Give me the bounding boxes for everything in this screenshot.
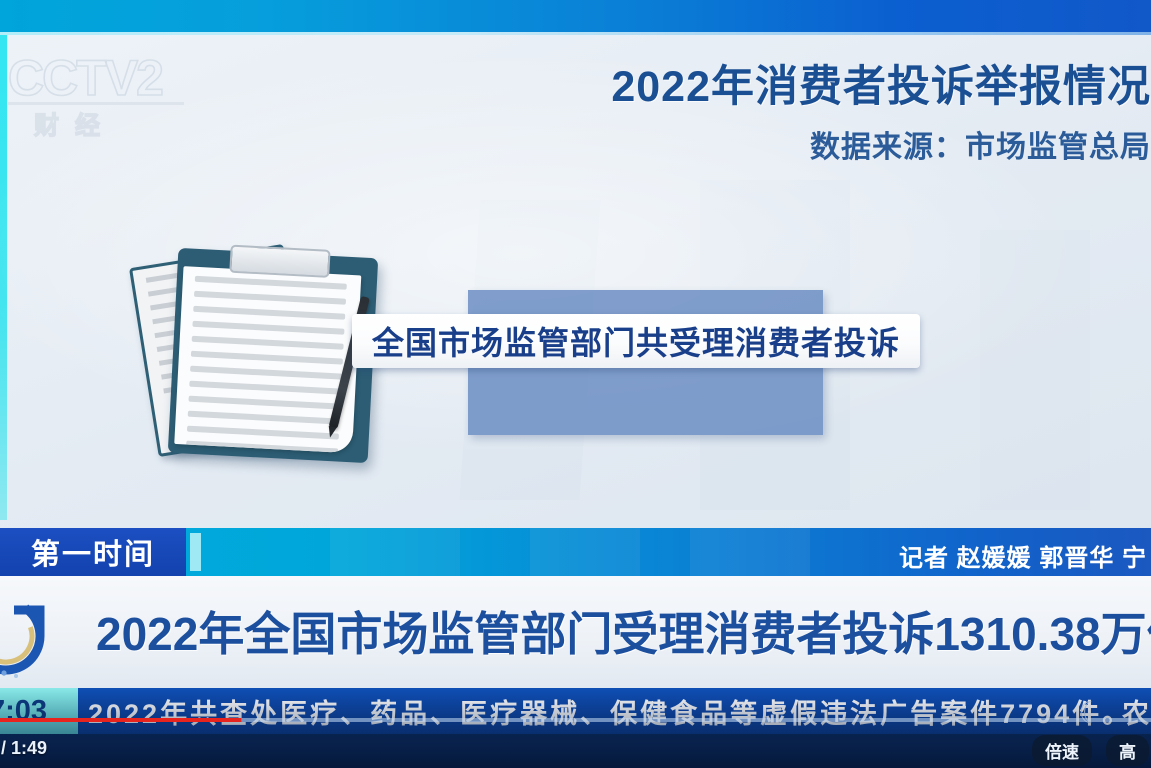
clipboard-illustration (125, 245, 385, 475)
chart-title: 2022年消费者投诉举报情况 (451, 62, 1151, 112)
program-circle-logo-svg (0, 588, 74, 684)
broadcast-video-frame[interactable]: CCTV2 财经 2022年消费者投诉举报情况 数据来源：市场监管总局 (0, 0, 1151, 688)
crescent-mark-icon: ☾ (1079, 696, 1101, 731)
player-bottom-background (0, 734, 1151, 768)
video-player-screen: CCTV2 财经 2022年消费者投诉举报情况 数据来源：市场监管总局 (0, 0, 1151, 768)
ticker-clock: 7:03 (0, 688, 78, 734)
program-name-badge: 第一时间 (0, 528, 186, 576)
banner-text: 全国市场监管部门共受理消费者投诉 (372, 318, 900, 364)
playback-speed-button[interactable]: 倍速 (1032, 735, 1092, 766)
credits-bar-tick (190, 533, 201, 571)
video-quality-button[interactable]: 高 (1106, 735, 1149, 766)
program-name-label: 第一时间 (31, 531, 155, 573)
ticker-scrolling-text: 2022年共查处医疗、药品、医疗器械、保健食品等虚假违法广告案件7794件。 (88, 692, 1132, 731)
chart-data-source: 数据来源：市场监管总局 (451, 122, 1151, 166)
top-gradient-band (0, 0, 1151, 32)
video-time-display: 4 / 1:49 (0, 738, 47, 759)
chart-header: 2022年消费者投诉举报情况 数据来源：市场监管总局 (451, 62, 1151, 166)
reporter-credits: 记者 赵媛媛 郭晋华 宁 (899, 538, 1147, 573)
credits-bar: 第一时间 记者 赵媛媛 郭晋华 宁 (0, 528, 1151, 576)
headline-text: 2022年全国市场监管部门受理消费者投诉1310.38万件 (96, 598, 1151, 664)
banner-callout: 全国市场监管部门共受理消费者投诉 (352, 314, 920, 368)
ticker-trailing-text: 农 (1122, 692, 1149, 731)
clipboard-clip (229, 245, 330, 278)
ticker-clock-text: 7:03 (0, 695, 47, 728)
news-ticker-bar: 7:03 2022年共查处医疗、药品、医疗器械、保健食品等虚假违法广告案件779… (0, 688, 1151, 734)
seek-bar[interactable] (0, 718, 1151, 722)
player-control-buttons: 倍速 高 (1032, 735, 1149, 766)
clipboard-board (168, 248, 378, 463)
program-circle-logo (0, 588, 74, 684)
